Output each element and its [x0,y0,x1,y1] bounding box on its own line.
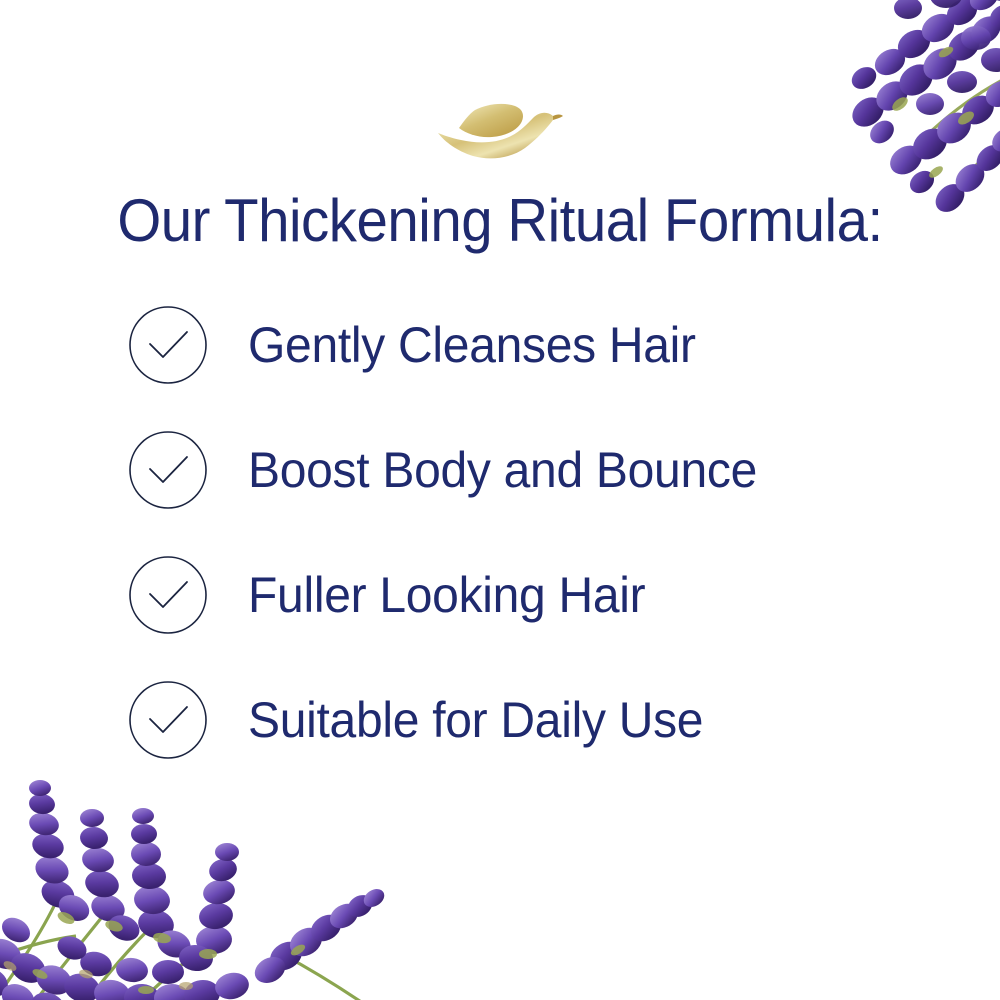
list-item: Boost Body and Bounce [128,430,948,510]
list-item: Gently Cleanses Hair [128,305,948,385]
list-item: Fuller Looking Hair [128,555,948,635]
lavender-flowers-icon [740,0,1000,216]
check-circle-icon [128,555,208,635]
page-title: Our Thickening Ritual Formula: [30,186,970,256]
benefit-label: Gently Cleanses Hair [248,317,696,373]
product-benefits-page: Our Thickening Ritual Formula: Gently Cl… [0,0,1000,1000]
check-circle-icon [128,305,208,385]
benefit-list: Gently Cleanses Hair Boost Body and Boun… [128,305,948,760]
benefit-label: Suitable for Daily Use [248,692,703,748]
list-item: Suitable for Daily Use [128,680,948,760]
benefit-label: Boost Body and Bounce [248,442,757,498]
lavender-flowers-icon [0,758,406,1000]
dove-icon [435,100,565,170]
benefit-label: Fuller Looking Hair [248,567,645,623]
check-circle-icon [128,430,208,510]
check-circle-icon [128,680,208,760]
